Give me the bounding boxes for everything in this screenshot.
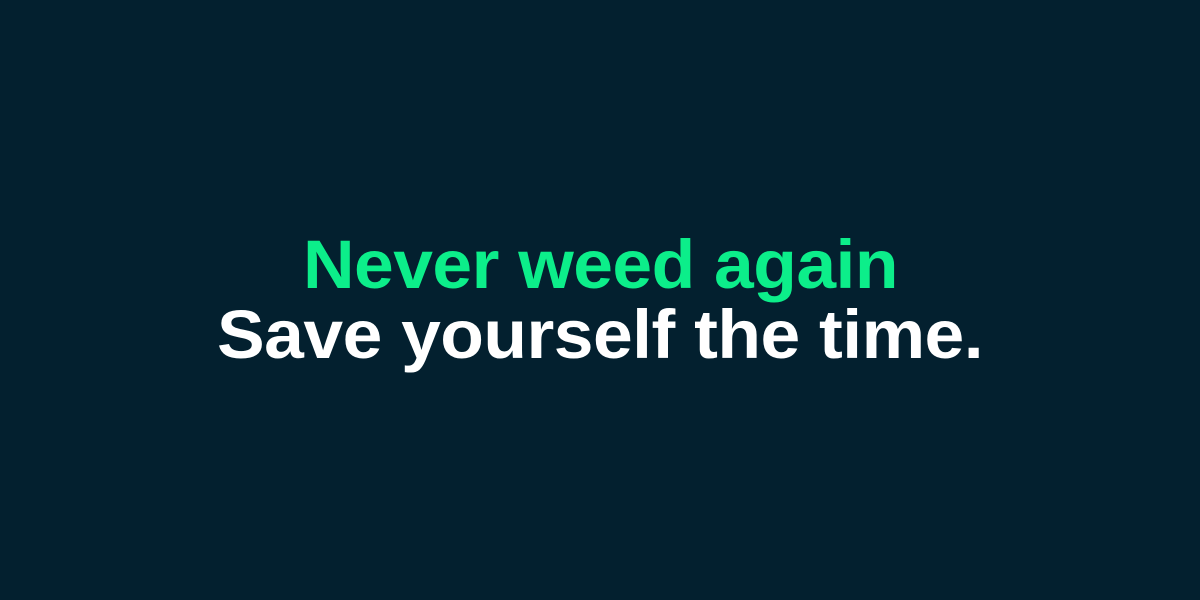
headline-line-primary: Never weed again (302, 230, 897, 300)
headline-block: Never weed again Save yourself the time. (0, 0, 1200, 600)
promo-banner: Never weed again Save yourself the time. (0, 0, 1200, 600)
headline-line-secondary: Save yourself the time. (217, 300, 983, 370)
